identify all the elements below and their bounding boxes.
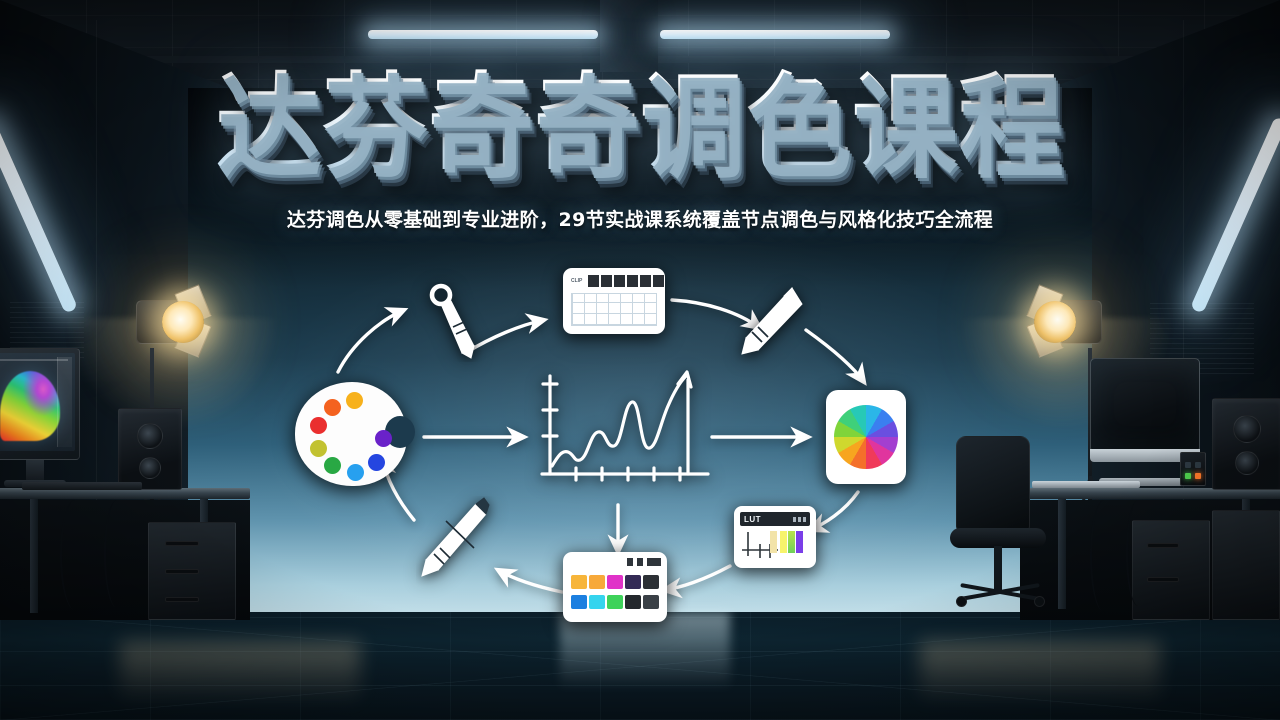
control-surface-panel[interactable] (1180, 452, 1206, 486)
speaker-woofer-left (137, 423, 163, 449)
chair-wheel-right (1034, 596, 1045, 607)
cabinet-handle-left-2 (165, 569, 199, 574)
equipment-rack-right (1212, 510, 1280, 620)
chair-post (994, 546, 1002, 592)
color-gamut-scope-display (0, 353, 75, 451)
cabinet-handle-right-2 (1147, 577, 1179, 582)
reference-monitor-left (0, 348, 80, 460)
speaker-woofer-right (1233, 415, 1261, 443)
speaker-tweeter-left (139, 457, 161, 479)
cabinet-handle-right-1 (1147, 543, 1179, 548)
ceiling-tube-right (660, 30, 890, 39)
page-title: 达芬奇奇调色课程 (216, 69, 1064, 184)
monitor-stand-left (26, 460, 44, 482)
floor-reflection-right (920, 642, 1160, 720)
fresnel-lens-right (1034, 301, 1076, 343)
cable-left-2 (104, 500, 130, 608)
ctrl-btn-dim-2[interactable] (1195, 462, 1201, 468)
left-desk-leg-a (30, 499, 38, 613)
monitor-ui-sidebar (57, 357, 72, 447)
studio-speaker-right (1212, 398, 1280, 490)
equipment-cabinet-left (148, 522, 236, 620)
imac-display-off (1090, 358, 1200, 450)
chair-backrest (956, 436, 1030, 532)
chromaticity-gamut-graphic (0, 371, 60, 442)
cable-right-2 (1126, 500, 1150, 606)
chair-wheel-left (956, 596, 967, 607)
ceiling-tube-left (368, 30, 598, 39)
poster-canvas: CLIP (0, 0, 1280, 720)
fresnel-light-right (1010, 292, 1120, 352)
office-chair (950, 436, 1080, 626)
cable-left-1 (60, 500, 90, 610)
title-block: 达芬奇奇调色课程 (0, 72, 1280, 180)
cabinet-handle-left-1 (165, 541, 199, 546)
imac-monitor-right (1090, 358, 1200, 450)
floor-reflection-left (120, 642, 360, 720)
keyboard-left (22, 482, 142, 490)
speaker-tweeter-right (1235, 451, 1259, 475)
ctrl-btn-dim-1[interactable] (1185, 462, 1191, 468)
fresnel-lens-left (162, 301, 204, 343)
chair-seat (950, 528, 1046, 548)
studio-speaker-left (118, 408, 182, 490)
fresnel-light-left (118, 292, 228, 352)
cabinet-handle-left-3 (165, 597, 199, 602)
floor-center-reflection (560, 612, 730, 720)
monitor-ui-toolbar (0, 359, 68, 361)
ctrl-btn-orange[interactable] (1195, 473, 1201, 479)
page-subtitle: 达芬调色从零基础到专业进阶，29节实战课系统覆盖节点调色与风格化技巧全流程 (0, 205, 1280, 232)
ctrl-btn-green[interactable] (1185, 473, 1191, 479)
cable-right-1 (1090, 500, 1118, 612)
